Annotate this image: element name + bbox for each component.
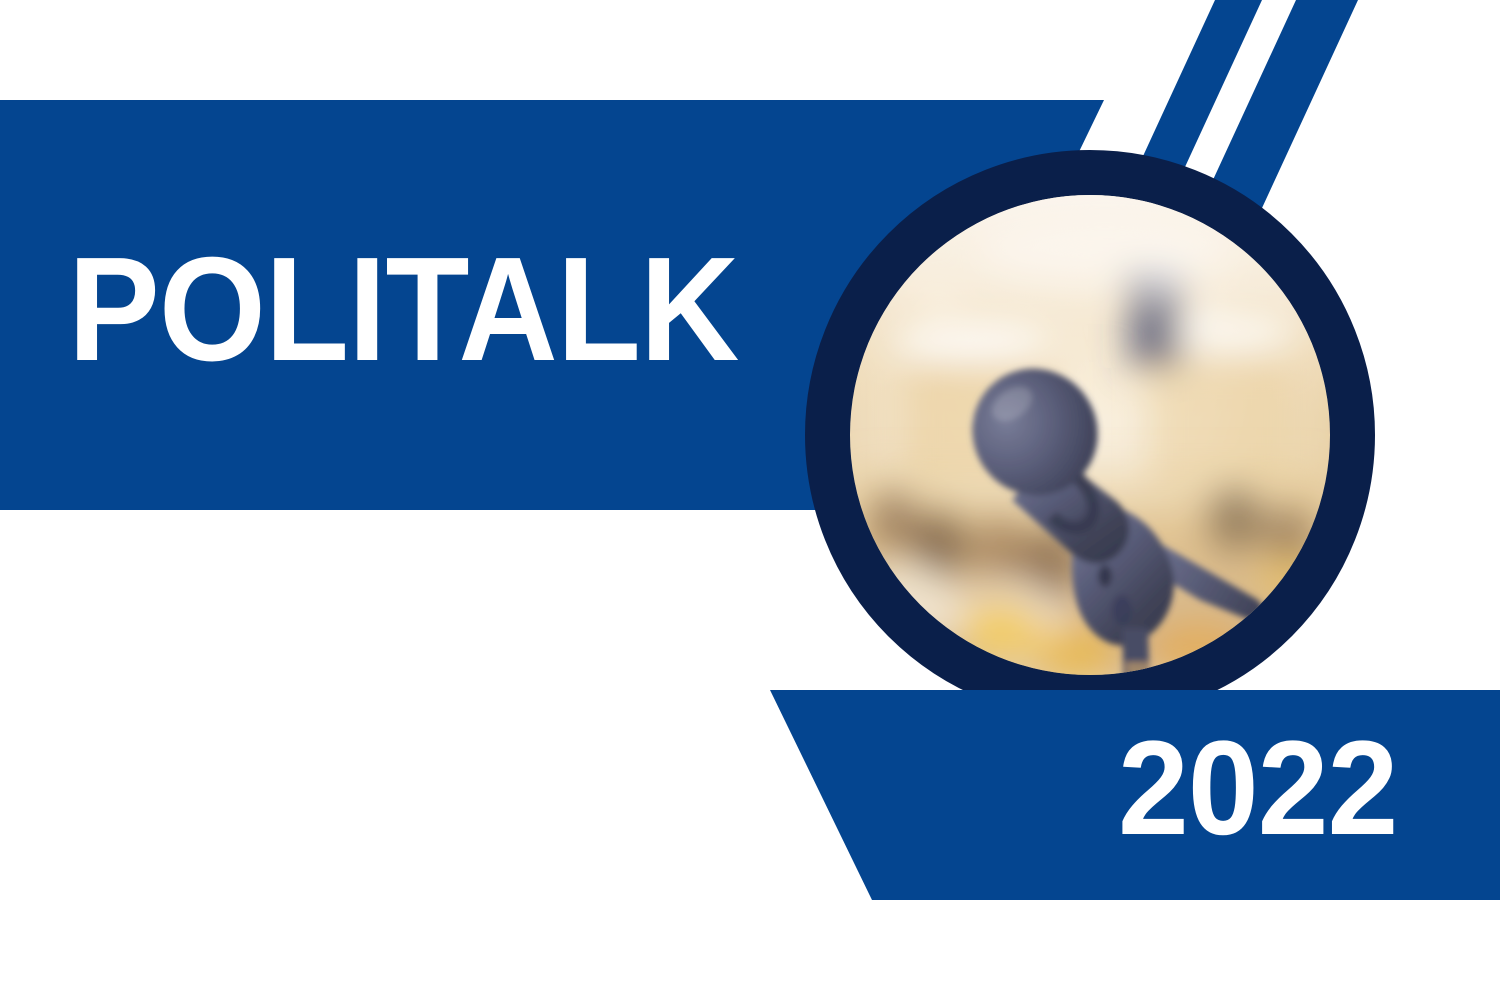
year-label: 2022 [1118, 722, 1397, 856]
banner-canvas: POLITALK 2022 [0, 0, 1500, 1000]
page-title: POLITALK [68, 236, 738, 384]
